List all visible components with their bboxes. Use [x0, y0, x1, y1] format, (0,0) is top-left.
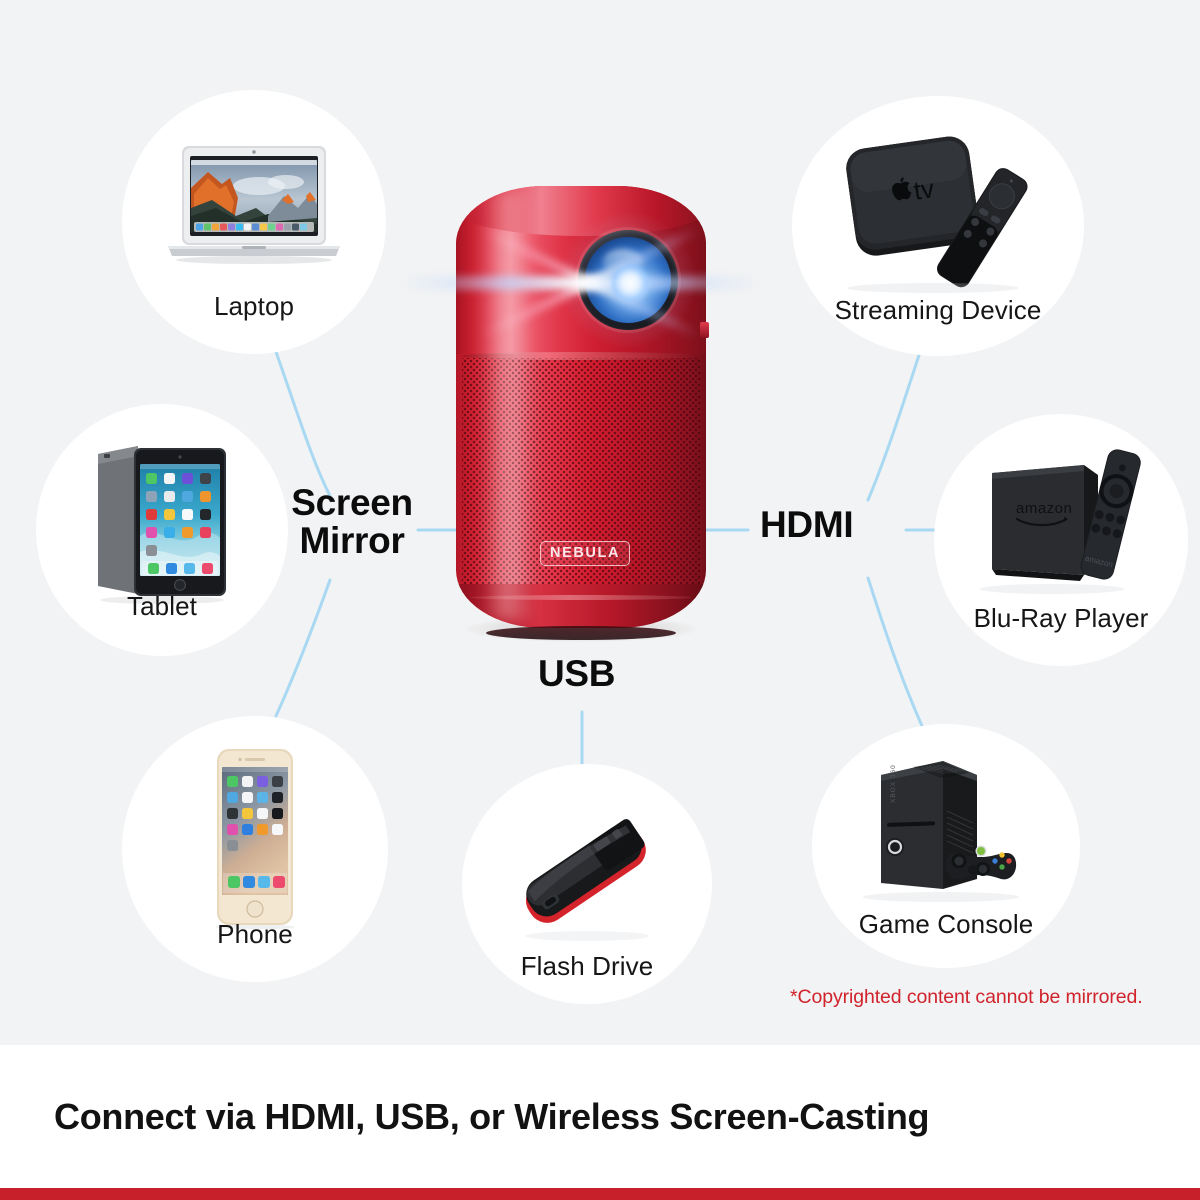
node-streaming-device[interactable]: tv — [792, 96, 1084, 356]
node-tablet-label: Tablet — [127, 591, 197, 622]
node-bluray-player[interactable]: amazon — [934, 414, 1188, 666]
projector-flare-core — [611, 264, 649, 302]
infographic-stage: Screen Mirror HDMI USB — [0, 0, 1200, 1200]
mode-label-screen-mirror: Screen Mirror — [282, 484, 422, 561]
tablet-icon — [36, 438, 288, 608]
node-game-console[interactable]: XBOX 360 — [812, 724, 1080, 968]
footer-banner: Connect via HDMI, USB, or Wireless Scree… — [0, 1045, 1200, 1188]
node-flash-drive[interactable]: Flash Drive — [462, 764, 712, 1004]
svg-text:XBOX 360: XBOX 360 — [890, 764, 897, 803]
mode-label-hdmi: HDMI — [760, 506, 853, 544]
projector-side-port — [700, 322, 709, 338]
link-streaming — [868, 352, 920, 500]
bottom-accent-bar — [0, 1188, 1200, 1200]
svg-text:tv: tv — [912, 173, 936, 206]
svg-text:amazon: amazon — [1016, 500, 1072, 517]
flash-drive-icon — [462, 792, 712, 962]
laptop-icon — [122, 130, 386, 280]
mode-label-usb: USB — [538, 655, 615, 693]
node-bluray-player-label: Blu-Ray Player — [974, 603, 1149, 634]
node-phone-label: Phone — [217, 919, 293, 950]
node-laptop-label: Laptop — [214, 291, 294, 322]
node-game-console-label: Game Console — [859, 909, 1034, 940]
projector-brand-badge: NEBULA — [540, 541, 630, 566]
mode-label-screen-mirror-line1: Screen — [282, 484, 422, 522]
projector-flare-horizontal — [400, 276, 760, 290]
node-tablet[interactable]: Tablet — [36, 404, 288, 656]
link-console — [868, 578, 922, 726]
streaming-device-icon: tv — [792, 114, 1084, 304]
mode-label-screen-mirror-line2: Mirror — [282, 522, 422, 560]
connectivity-diagram: Screen Mirror HDMI USB — [0, 0, 1200, 1045]
footer-headline: Connect via HDMI, USB, or Wireless Scree… — [54, 1096, 929, 1138]
node-laptop[interactable]: Laptop — [122, 90, 386, 354]
projector-foot — [486, 626, 676, 640]
phone-icon — [122, 742, 388, 932]
node-flash-drive-label: Flash Drive — [521, 951, 654, 982]
copyright-disclaimer: *Copyrighted content cannot be mirrored. — [790, 986, 1143, 1009]
game-console-icon: XBOX 360 — [812, 742, 1080, 912]
node-phone[interactable]: Phone — [122, 716, 388, 982]
node-streaming-device-label: Streaming Device — [835, 295, 1042, 326]
nebula-capsule-projector: NEBULA — [456, 186, 706, 638]
bluray-player-icon: amazon — [934, 436, 1188, 608]
